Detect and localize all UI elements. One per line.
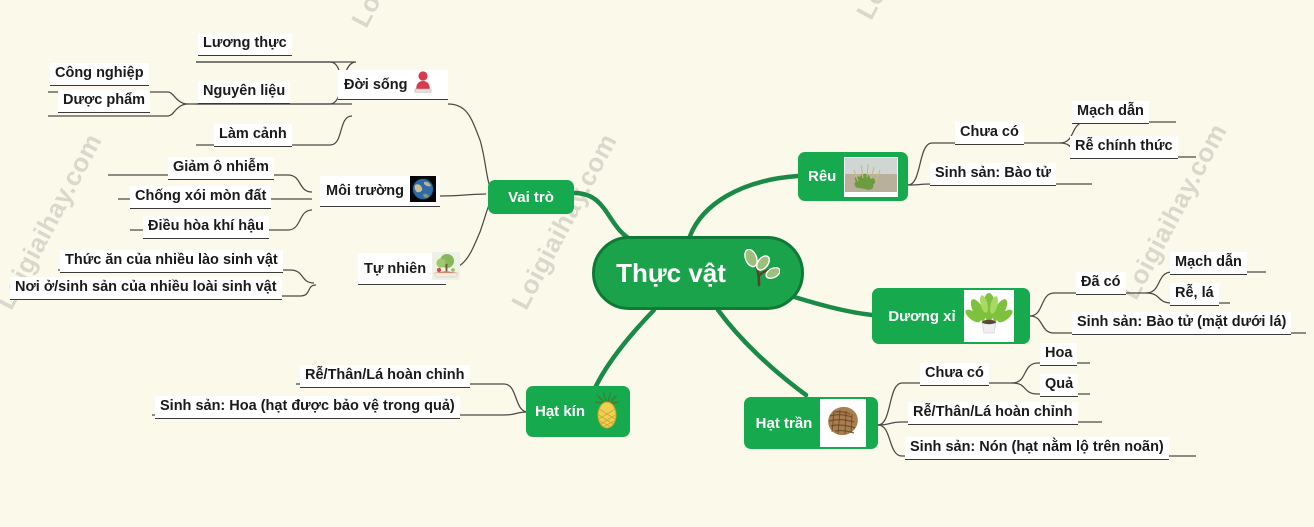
central-node[interactable]: Thực vật [592,236,804,310]
leaf-dx-re-la[interactable]: Rễ, lá [1170,283,1219,306]
leaf-ht-chua-co[interactable]: Chưa có [920,363,989,386]
earth-icon [410,176,436,207]
branch-node-label: Hạt trần [756,415,813,432]
branch-node-hat-kin[interactable]: Hạt kín [526,386,630,437]
leaf-hk-sinh-san[interactable]: Sinh sản: Hoa (hạt được bảo vệ trong quả… [155,396,460,419]
subnode-doi-song[interactable]: Đời sống [338,70,448,100]
subnode-label: Đời sống [344,77,407,93]
leaf-cong-nghiep[interactable]: Công nghiệp [50,63,149,86]
branch-node-reu[interactable]: Rêu [798,152,908,201]
branch-node-label: Dương xỉ [888,308,955,325]
central-node-label: Thực vật [616,258,726,289]
watermark: Loigiaihay.com [345,0,464,33]
moss-photo [844,157,898,197]
leaf-ht-qua[interactable]: Quả [1040,374,1078,397]
subnode-moi-truong[interactable]: Môi trường [320,176,440,207]
leaf-dx-da-co[interactable]: Đã có [1076,272,1126,295]
leaf-ht-sinh-san[interactable]: Sinh sản: Nón (hạt nằm lộ trên noãn) [905,437,1169,460]
leaf-reu-re-chinh-thuc[interactable]: Rễ chính thức [1070,136,1178,159]
branch-node-label: Hạt kín [535,403,585,420]
leaf-ht-hoa[interactable]: Hoa [1040,343,1077,366]
sprout-icon [738,249,780,298]
watermark: Loigiaihay.com [850,0,969,25]
leaf-reu-sinh-san[interactable]: Sinh sản: Bào tử [930,163,1056,186]
leaf-chong-xoi-mon-dat[interactable]: Chống xói mòn đất [130,186,271,209]
leaf-hk-re-than-la[interactable]: Rễ/Thân/Lá hoàn chỉnh [300,365,470,388]
subnode-tu-nhien[interactable]: Tự nhiên [358,253,446,285]
leaf-noi-o-sinh-san[interactable]: Nơi ở/sinh sản của nhiều loài sinh vật [10,277,282,300]
book-tree-icon [432,252,460,285]
leaf-reu-chua-co[interactable]: Chưa có [955,122,1024,145]
branch-node-hat-tran[interactable]: Hạt trần [744,397,878,449]
leaf-dieu-hoa-khi-hau[interactable]: Điều hòa khí hậu [143,216,269,239]
leaf-reu-mach-dan[interactable]: Mạch dẫn [1072,101,1149,124]
leaf-luong-thuc[interactable]: Lương thực [198,33,292,56]
fern-photo [964,290,1014,342]
branch-node-label: Rêu [808,168,836,185]
leaf-nguyen-lieu[interactable]: Nguyên liệu [198,81,290,104]
subnode-label: Môi trường [326,183,404,199]
leaf-lam-canh[interactable]: Làm cảnh [214,124,292,147]
person-stamp-icon [413,70,433,99]
branch-node-duong-xi[interactable]: Dương xỉ [872,288,1030,344]
leaf-duoc-pham[interactable]: Dược phẩm [58,90,150,113]
subnode-label: Tự nhiên [364,261,426,277]
leaf-thuc-an-sinh-vat[interactable]: Thức ăn của nhiều lào sinh vật [60,250,283,273]
branch-node-label: Vai trò [508,189,554,206]
leaf-dx-sinh-san[interactable]: Sinh sản: Bào tử (mặt dưới lá) [1072,312,1291,335]
mindmap-canvas: Loigiaihay.com Loigiaihay.com Loigiaihay… [0,0,1314,527]
leaf-giam-o-nhiem[interactable]: Giảm ô nhiễm [168,157,274,180]
branch-node-vai-tro[interactable]: Vai trò [488,180,574,214]
pineapple-icon [593,391,621,433]
leaf-dx-mach-dan[interactable]: Mạch dẫn [1170,252,1247,275]
pinecone-photo [820,399,866,447]
leaf-ht-re-than-la[interactable]: Rễ/Thân/Lá hoàn chỉnh [908,402,1078,425]
